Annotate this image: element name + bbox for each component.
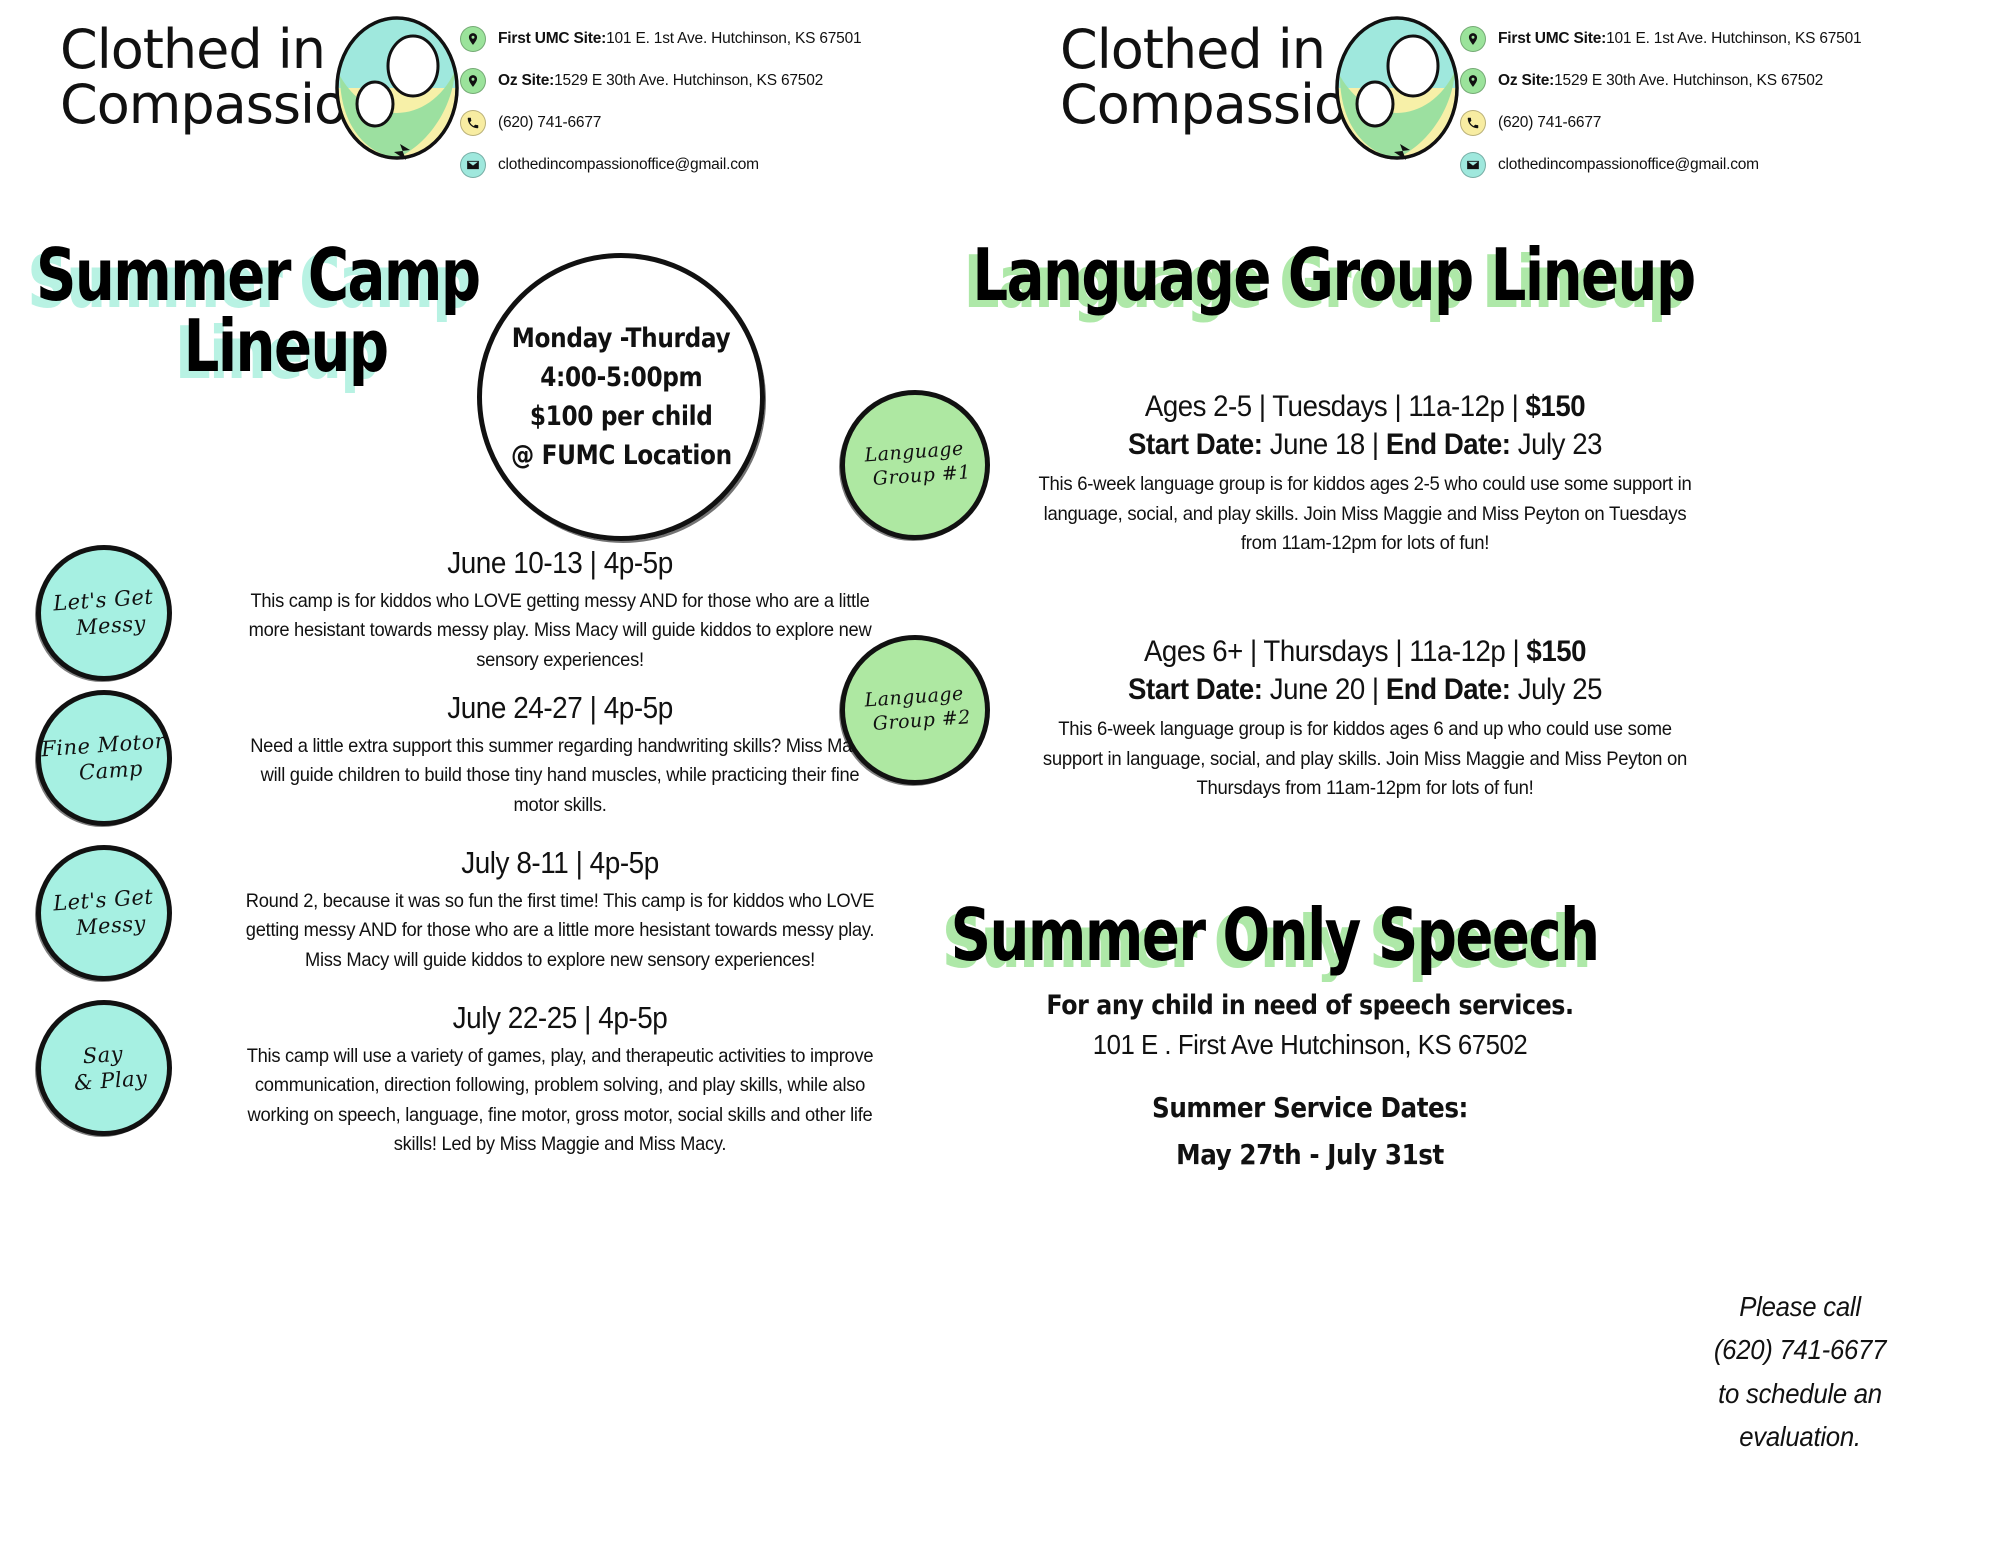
abstract-figures-logo-icon [330,16,465,161]
camp-title: July 22-25 | 4p-5p [254,1000,866,1036]
info-line: @ FUMC Location [511,436,732,475]
contact-row: Oz Site:1529 E 30th Ave. Hutchinson, KS … [1460,68,1861,94]
contact-text: Oz Site:1529 E 30th Ave. Hutchinson, KS … [498,72,823,90]
contact-row: First UMC Site:101 E. 1st Ave. Hutchinso… [1460,26,1861,52]
summer-speech-heading: Summer Only Speech [830,900,1719,971]
camp-description: Need a little extra support this summer … [240,732,879,820]
camp-copy: June 10-13 | 4p-5p This camp is for kidd… [220,545,900,675]
logo-block-left: Clothed in Compassion [0,10,460,131]
contact-value: 101 E. 1st Ave. Hutchinson, KS 67501 [606,30,861,47]
flyer-page: Clothed in Compassion [0,0,2000,1545]
abstract-figures-logo-icon [1330,16,1465,161]
end-date-value: July 23 [1511,428,1602,461]
camp-entry: Let's Get Messy June 10-13 | 4p-5p This … [36,545,966,681]
start-date-label: Start Date: [1128,673,1263,706]
camp-description: This camp is for kiddos who LOVE getting… [240,587,879,675]
camp-badge-label: Fine Motor Camp [40,729,167,788]
contact-text: clothedincompassionoffice@gmail.com [498,156,759,174]
camp-copy: July 8-11 | 4p-5p Round 2, because it wa… [220,845,900,975]
language-group-schedule-text: Ages 2-5 | Tuesdays | 11a-12p | [1145,390,1526,423]
camp-badge-label: Let's Get Messy [52,584,155,641]
contact-row: clothedincompassionoffice@gmail.com [460,152,861,178]
language-badge-line2: Group #1 [872,462,971,491]
brand-line-1: Clothed in [1060,18,1325,81]
camp-entry: Say & Play July 22-25 | 4p-5p This camp … [36,1000,966,1159]
contact-row: Oz Site:1529 E 30th Ave. Hutchinson, KS … [460,68,861,94]
language-group-badge-label: Language Group #1 [858,438,971,491]
right-panel: Clothed in Compassion [1000,0,2000,1545]
call-line-3: to schedule an [1653,1372,1947,1415]
contact-label: Oz Site: [498,72,554,89]
camp-badge: Let's Get Messy [36,845,172,981]
camp-info-circle: Monday -Thurday 4:00-5:00pm $100 per chi… [477,253,765,541]
camp-badge-line2: & Play [73,1066,148,1095]
contact-row: (620) 741-6677 [1460,110,1861,136]
contact-label: First UMC Site: [498,30,606,47]
contact-row: First UMC Site:101 E. 1st Ave. Hutchinso… [460,26,861,52]
camp-badge-line2: Messy [66,611,156,641]
brand-line-1: Clothed in [60,18,325,81]
camp-entry: Let's Get Messy July 8-11 | 4p-5p Round … [36,845,966,981]
info-line: Monday -Thurday [512,319,731,358]
contact-value: 101 E. 1st Ave. Hutchinson, KS 67501 [1606,30,1861,47]
summer-speech-block: For any child in need of speech services… [830,990,1790,1171]
language-group-badge-label: Language Group #2 [858,683,971,736]
language-group-badge: Language Group #1 [840,390,990,540]
language-group-schedule: Ages 6+ | Thursdays | 11a-12p | $150 [1048,635,1683,669]
camp-badge: Fine Motor Camp [36,690,172,826]
contact-text: Oz Site:1529 E 30th Ave. Hutchinson, KS … [1498,72,1823,90]
contact-text: First UMC Site:101 E. 1st Ave. Hutchinso… [1498,30,1861,48]
language-group-schedule-text: Ages 6+ | Thursdays | 11a-12p | [1144,635,1526,668]
end-date-label: End Date: [1386,428,1511,461]
camp-badge: Say & Play [36,1000,172,1136]
camp-badge: Let's Get Messy [36,545,172,681]
header-right: Clothed in Compassion [1000,10,2000,180]
contact-list-right: First UMC Site:101 E. 1st Ave. Hutchinso… [1460,10,1861,194]
camp-title: July 8-11 | 4p-5p [254,845,866,881]
camp-title: June 24-27 | 4p-5p [254,690,866,726]
speech-dates-label: Summer Service Dates: [888,1091,1733,1124]
language-group-price: $150 [1526,635,1586,668]
contact-value: (620) 741-6677 [1498,114,1601,131]
contact-value: 1529 E 30th Ave. Hutchinson, KS 67502 [554,72,823,89]
camp-entry: Fine Motor Camp June 24-27 | 4p-5p Need … [36,690,966,826]
language-group-badge: Language Group #2 [840,635,990,785]
speech-dates-value: May 27th - July 31st [888,1138,1733,1171]
camp-badge-label: Let's Get Messy [52,884,155,941]
call-line-1: Please call [1653,1285,1947,1328]
camp-copy: July 22-25 | 4p-5p This camp will use a … [220,1000,900,1159]
language-group-description: This 6-week language group is for kiddos… [1037,715,1693,804]
language-group-schedule: Ages 2-5 | Tuesdays | 11a-12p | $150 [1048,390,1683,424]
end-date-value: July 25 [1511,673,1602,706]
logo-block-right: Clothed in Compassion [1000,10,1460,131]
contact-row: (620) 741-6677 [460,110,861,136]
contact-text: (620) 741-6677 [1498,114,1601,132]
camp-description: This camp will use a variety of games, p… [240,1042,879,1159]
language-group-entry: Language Group #1 Ages 2-5 | Tuesdays | … [840,390,1840,559]
language-group-entry: Language Group #2 Ages 6+ | Thursdays | … [840,635,1840,804]
language-group-copy: Ages 2-5 | Tuesdays | 11a-12p | $150 Sta… [1020,390,1710,559]
call-line-4: evaluation. [1653,1415,1947,1458]
call-line-2: (620) 741-6677 [1653,1328,1947,1371]
language-group-dates: Start Date: June 20 | End Date: July 25 [1048,673,1683,707]
info-line: 4:00-5:00pm [540,358,702,397]
header-left: Clothed in Compassion [0,10,1000,180]
start-date-value: June 18 | [1263,428,1386,461]
language-group-dates: Start Date: June 18 | End Date: July 23 [1048,428,1683,462]
start-date-value: June 20 | [1263,673,1386,706]
contact-list-left: First UMC Site:101 E. 1st Ave. Hutchinso… [460,10,861,194]
contact-text: (620) 741-6677 [498,114,601,132]
camp-badge-line1: Say [60,1040,147,1070]
summer-camp-heading-line2: Lineup [36,311,535,382]
contact-value: clothedincompassionoffice@gmail.com [498,156,759,173]
language-group-price: $150 [1526,390,1586,423]
camp-description: Round 2, because it was so fun the first… [240,887,879,975]
contact-label: Oz Site: [1498,72,1554,89]
contact-value: clothedincompassionoffice@gmail.com [1498,156,1759,173]
contact-label: First UMC Site: [1498,30,1606,47]
language-group-description: This 6-week language group is for kiddos… [1037,470,1693,559]
language-badge-line2: Group #2 [872,707,971,736]
speech-address: 101 E . First Ave Hutchinson, KS 67502 [868,1029,1751,1061]
contact-value: (620) 741-6677 [498,114,601,131]
info-line: $100 per child [530,397,713,436]
contact-row: clothedincompassionoffice@gmail.com [1460,152,1861,178]
speech-subtitle: For any child in need of speech services… [888,990,1733,1021]
end-date-label: End Date: [1386,673,1511,706]
contact-text: clothedincompassionoffice@gmail.com [1498,156,1759,174]
language-group-copy: Ages 6+ | Thursdays | 11a-12p | $150 Sta… [1020,635,1710,804]
start-date-label: Start Date: [1128,428,1263,461]
contact-value: 1529 E 30th Ave. Hutchinson, KS 67502 [1554,72,1823,89]
camp-badge-label: Say & Play [60,1040,149,1096]
contact-text: First UMC Site:101 E. 1st Ave. Hutchinso… [498,30,861,48]
camp-title: June 10-13 | 4p-5p [254,545,866,581]
camp-badge-line2: Messy [66,911,156,941]
schedule-call-block: Please call (620) 741-6677 to schedule a… [1640,1285,1960,1459]
camp-copy: June 24-27 | 4p-5p Need a little extra s… [220,690,900,820]
language-group-heading: Language Group Lineup [885,240,1782,311]
